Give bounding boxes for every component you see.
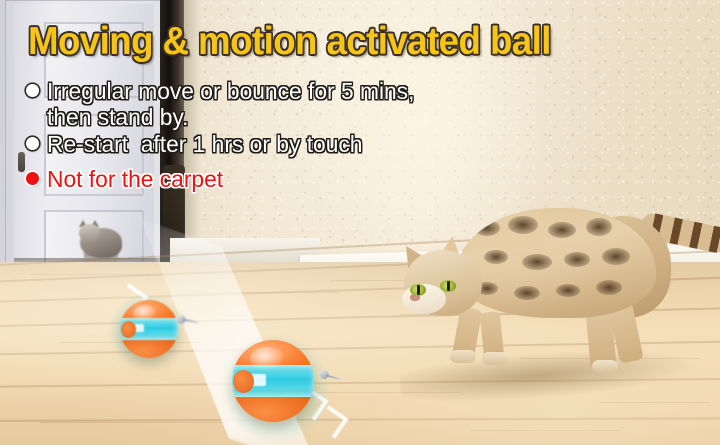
- cat-body: [456, 208, 656, 318]
- bullet-item: Re-start after 1 hrs or by touch: [26, 131, 496, 157]
- cat-paw: [450, 350, 476, 363]
- ball-highlight: [250, 347, 286, 370]
- distant-cat-head: [79, 224, 100, 242]
- bullet-text-warning: Not for the carpet: [47, 166, 223, 192]
- toy-ball-front: [232, 340, 314, 422]
- ball-highlight: [133, 305, 159, 321]
- banner-title: Moving & motion activated ball: [28, 22, 551, 61]
- toy-ball-rear: [120, 300, 178, 358]
- ball-side-cap: [121, 321, 136, 337]
- bullet-text: Re-start after 1 hrs or by touch: [47, 131, 362, 157]
- feature-bullet-list: Irregular move or bounce for 5 mins, the…: [26, 78, 496, 192]
- bullet-text: Irregular move or bounce for 5 mins, the…: [47, 78, 414, 131]
- cat-eye-right: [440, 280, 456, 292]
- cat-paw: [482, 352, 508, 365]
- white-bullet-dot-icon: [26, 84, 39, 97]
- cat-eye-left: [410, 284, 426, 296]
- product-banner: Moving & motion activated ball Irregular…: [0, 0, 720, 445]
- white-bullet-dot-icon: [26, 137, 39, 150]
- bullet-item-warning: Not for the carpet: [26, 166, 496, 192]
- cat-paw: [592, 360, 618, 373]
- bullet-item: Irregular move or bounce for 5 mins, the…: [26, 78, 496, 131]
- red-bullet-dot-icon: [26, 172, 39, 185]
- bengal-cat: [396, 200, 716, 380]
- door-hinge: [18, 152, 25, 172]
